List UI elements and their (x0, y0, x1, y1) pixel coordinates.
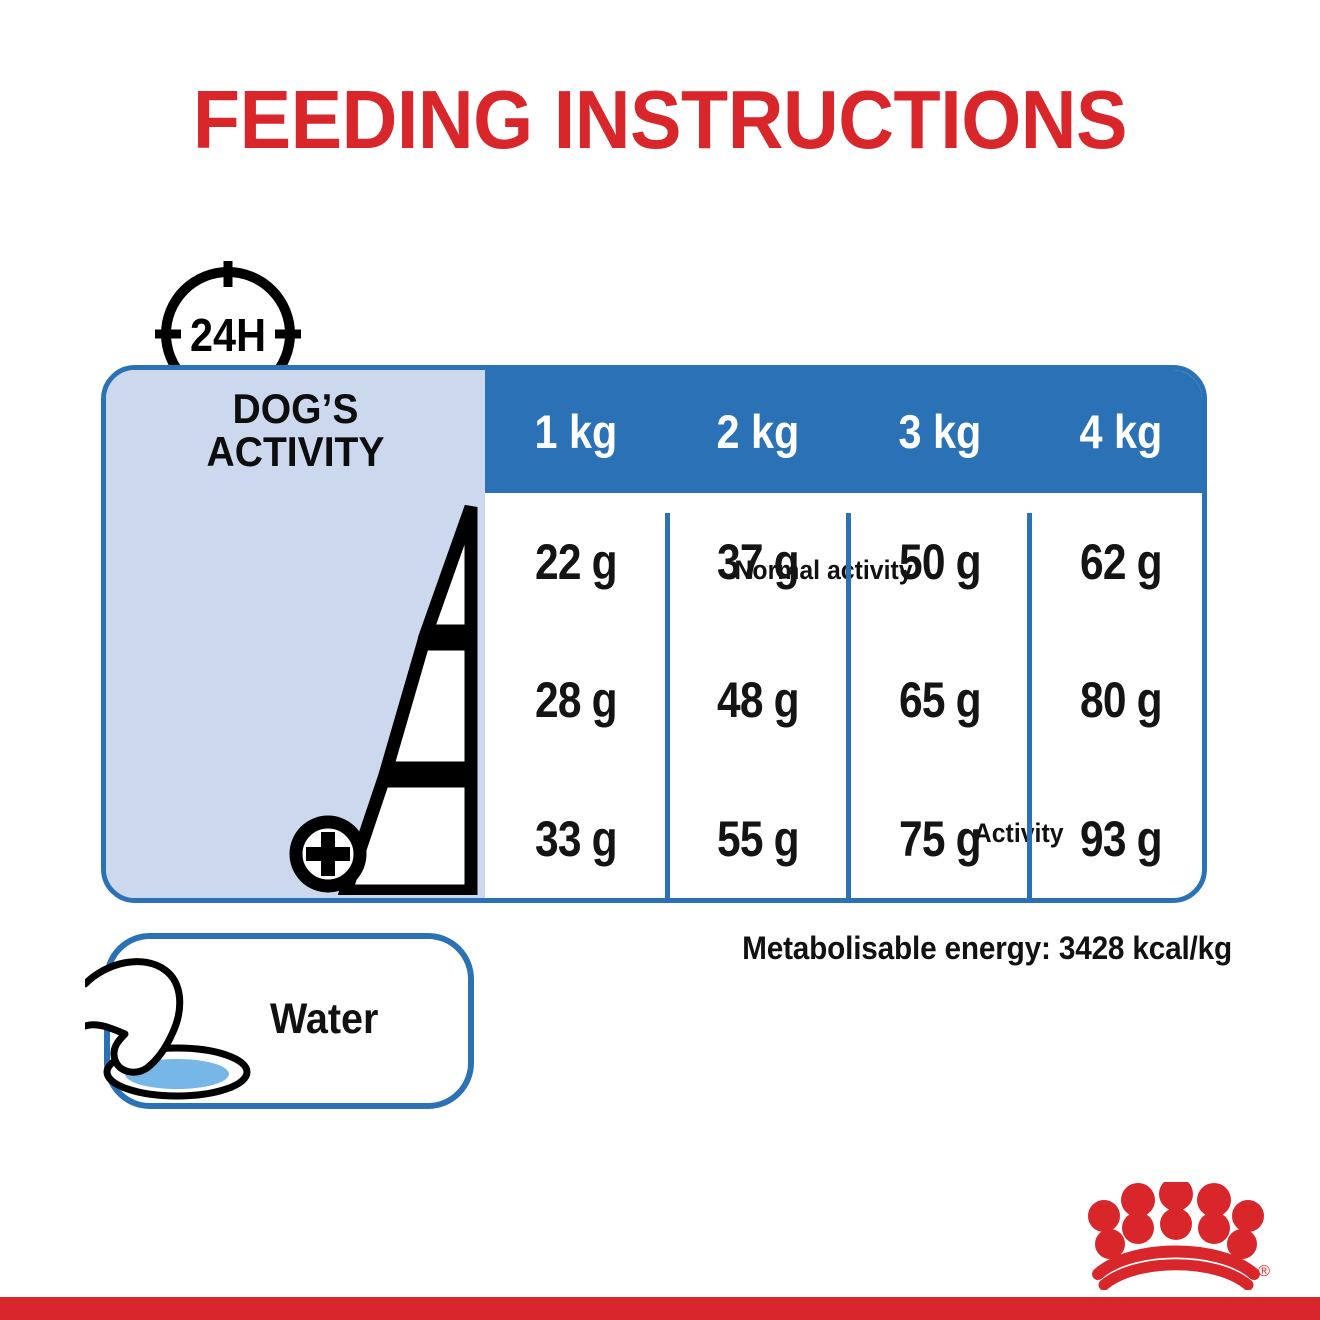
cell-r3c3: 75 g (862, 770, 1016, 903)
column-header-2kg: 2 kg (678, 370, 838, 493)
bottom-accent-bar (0, 1297, 1320, 1320)
table-column-headers: 1 kg 2 kg 3 kg 4 kg (485, 370, 1207, 493)
column-header-3kg: 3 kg (859, 370, 1019, 493)
svg-text:24H: 24H (190, 310, 266, 362)
activity-column-title: DOG’S ACTIVITY (119, 388, 471, 474)
table-body: 22 g 37 g 50 g 62 g 28 g 48 g 65 g 80 g … (485, 493, 1207, 903)
feeding-instructions-panel: FEEDING INSTRUCTIONS 24H DOG’S ACTIVITY … (0, 0, 1320, 1320)
page-title: FEEDING INSTRUCTIONS (46, 78, 1274, 161)
column-header-4kg: 4 kg (1041, 370, 1201, 493)
dog-drinking-water-icon (85, 948, 295, 1103)
cell-r2c3: 65 g (862, 631, 1016, 769)
registered-mark: ® (1258, 1263, 1270, 1280)
column-header-1kg: 1 kg (496, 370, 656, 493)
cell-r3c4: 93 g (1044, 770, 1198, 903)
cell-r1c4: 62 g (1044, 493, 1198, 631)
feeding-table: DOG’S ACTIVITY 1 kg 2 kg 3 kg 4 kg (101, 365, 1207, 903)
cell-r1c2: 37 g (680, 493, 834, 631)
cell-r2c2: 48 g (680, 631, 834, 769)
cell-r2c4: 80 g (1044, 631, 1198, 769)
activity-plus-icon (286, 812, 370, 896)
cell-r3c1: 33 g (499, 770, 653, 903)
activity-column-title-line2: ACTIVITY (119, 431, 471, 474)
cell-r1c1: 22 g (499, 493, 653, 631)
cell-r1c3: 50 g (862, 493, 1016, 631)
table-cells: 22 g 37 g 50 g 62 g 28 g 48 g 65 g 80 g … (485, 493, 1207, 903)
cell-r3c2: 55 g (680, 770, 834, 903)
activity-column-title-line1: DOG’S (119, 388, 471, 431)
royal-canin-crown-logo: ® (1082, 1182, 1272, 1290)
cell-r2c1: 28 g (499, 631, 653, 769)
